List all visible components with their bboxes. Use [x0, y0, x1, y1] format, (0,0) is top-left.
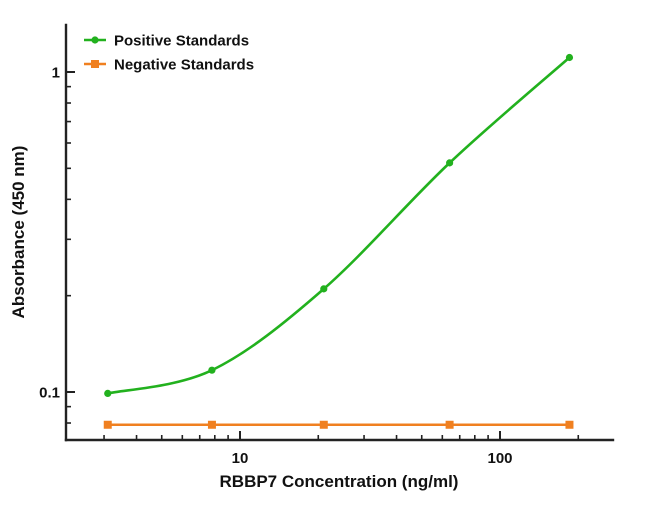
y-axis-title: Absorbance (450 nm) — [9, 146, 28, 319]
data-point[interactable] — [208, 421, 216, 429]
data-point[interactable] — [104, 390, 111, 397]
x-tick-label: 100 — [487, 450, 512, 467]
data-point[interactable] — [104, 421, 112, 429]
x-tick-label: 10 — [232, 450, 249, 467]
chart-background — [0, 0, 650, 506]
chart-container: 10.1 10100 RBBP7 Concentration (ng/ml) A… — [0, 0, 650, 506]
legend-label: Positive Standards — [114, 33, 249, 50]
x-axis-title: RBBP7 Concentration (ng/ml) — [220, 472, 459, 491]
data-point[interactable] — [446, 421, 454, 429]
data-point[interactable] — [320, 285, 327, 292]
legend-marker — [91, 60, 99, 68]
y-tick-label: 1 — [52, 65, 60, 82]
legend-label: Negative Standards — [114, 57, 254, 74]
data-point[interactable] — [208, 367, 215, 374]
data-point[interactable] — [565, 421, 573, 429]
data-point[interactable] — [320, 421, 328, 429]
data-point[interactable] — [446, 159, 453, 166]
y-tick-label: 0.1 — [39, 385, 60, 402]
standard-curve-chart: 10.1 10100 RBBP7 Concentration (ng/ml) A… — [0, 0, 650, 506]
legend-marker — [91, 36, 98, 43]
data-point[interactable] — [566, 54, 573, 61]
